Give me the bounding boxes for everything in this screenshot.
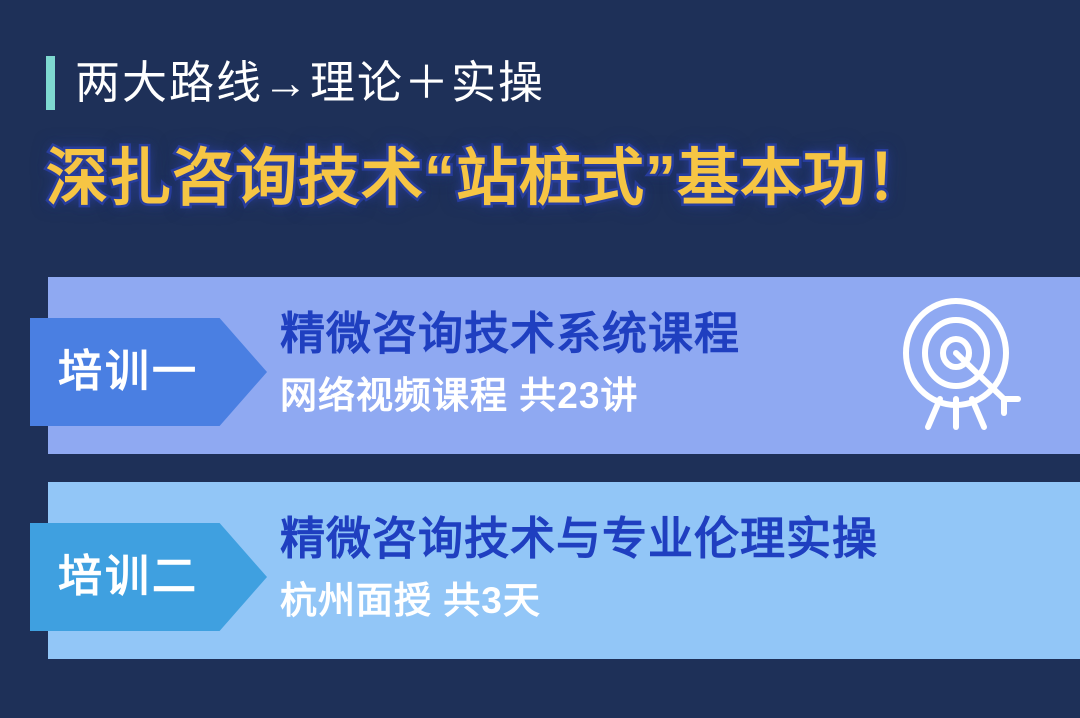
card-2-body: 精微咨询技术与专业伦理实操 杭州面授 共3天 — [280, 508, 930, 628]
card-1-title: 精微咨询技术系统课程 — [280, 303, 930, 365]
kicker-text: 两大路线→理论＋实操 — [75, 56, 545, 110]
promo-poster: 两大路线→理论＋实操 深扎咨询技术“站桩式”基本功！ 培训一 精微咨询技术系统课… — [0, 0, 1080, 718]
card-2-badge-label: 培训二 — [30, 523, 199, 631]
page-title: 深扎咨询技术“站桩式”基本功！ — [46, 138, 929, 220]
card-2-title: 精微咨询技术与专业伦理实操 — [280, 508, 930, 570]
card-1-badge: 培训一 — [30, 318, 267, 426]
card-2-subtitle: 杭州面授 共3天 — [280, 574, 930, 628]
card-1-subtitle: 网络视频课程 共23讲 — [280, 369, 930, 423]
target-icon — [892, 295, 1032, 435]
poster-header: 两大路线→理论＋实操 深扎咨询技术“站桩式”基本功！ — [0, 0, 1080, 260]
accent-bar-icon — [46, 56, 55, 110]
course-card-1[interactable]: 培训一 精微咨询技术系统课程 网络视频课程 共23讲 — [48, 277, 1080, 454]
course-card-2[interactable]: 培训二 精微咨询技术与专业伦理实操 杭州面授 共3天 — [48, 482, 1080, 659]
card-1-badge-label: 培训一 — [30, 318, 199, 426]
card-2-badge: 培训二 — [30, 523, 267, 631]
card-1-body: 精微咨询技术系统课程 网络视频课程 共23讲 — [280, 303, 930, 423]
kicker-line: 两大路线→理论＋实操 — [46, 52, 545, 114]
